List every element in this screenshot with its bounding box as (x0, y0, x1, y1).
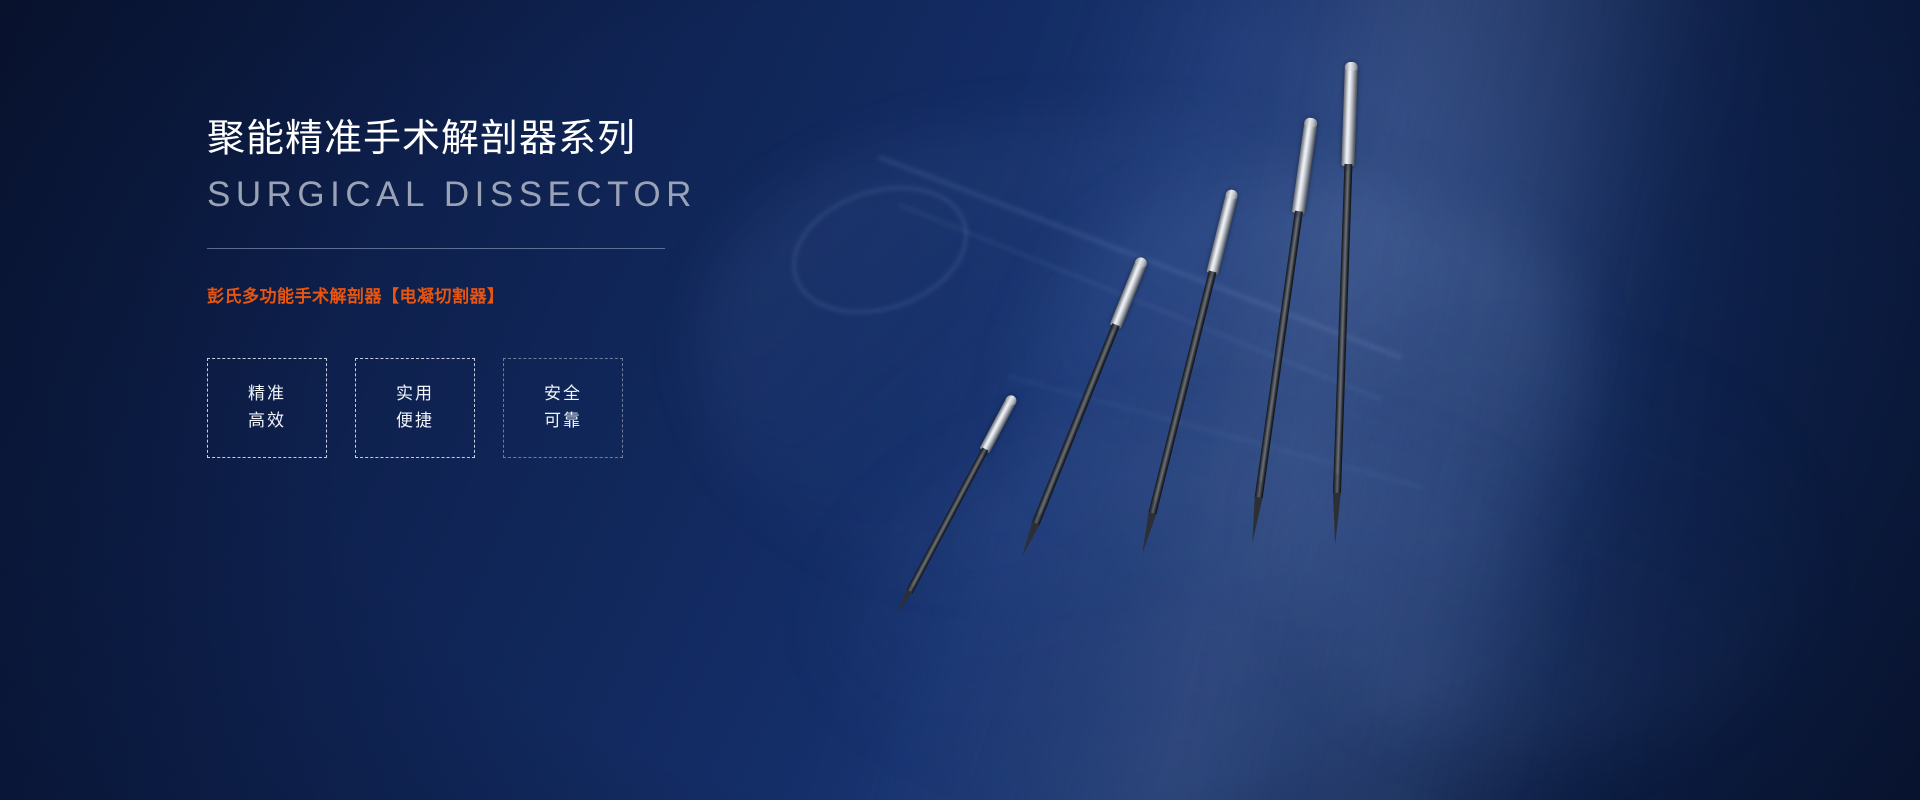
divider (207, 248, 665, 249)
feature-box: 实用 便捷 (355, 358, 475, 458)
product-name-label: 彭氏多功能手术解剖器【电凝切割器】 (207, 285, 677, 309)
feature-line-2: 便捷 (396, 412, 434, 431)
hero-banner: 聚能精准手术解剖器系列 SURGICAL DISSECTOR 彭氏多功能手术解剖… (0, 0, 1920, 800)
page-subtitle-english: SURGICAL DISSECTOR (207, 176, 677, 215)
hero-content: 聚能精准手术解剖器系列 SURGICAL DISSECTOR 彭氏多功能手术解剖… (207, 116, 677, 458)
feature-line-2: 高效 (248, 412, 286, 431)
feature-box: 安全 可靠 (503, 358, 623, 458)
feature-line-1: 精准 (248, 385, 286, 404)
feature-box: 精准 高效 (207, 358, 327, 458)
feature-line-1: 实用 (396, 385, 434, 404)
page-title: 聚能精准手术解剖器系列 (207, 116, 677, 164)
feature-box-group: 精准 高效 实用 便捷 安全 可靠 (207, 358, 677, 458)
feature-line-2: 可靠 (544, 412, 582, 431)
feature-line-1: 安全 (544, 385, 582, 404)
